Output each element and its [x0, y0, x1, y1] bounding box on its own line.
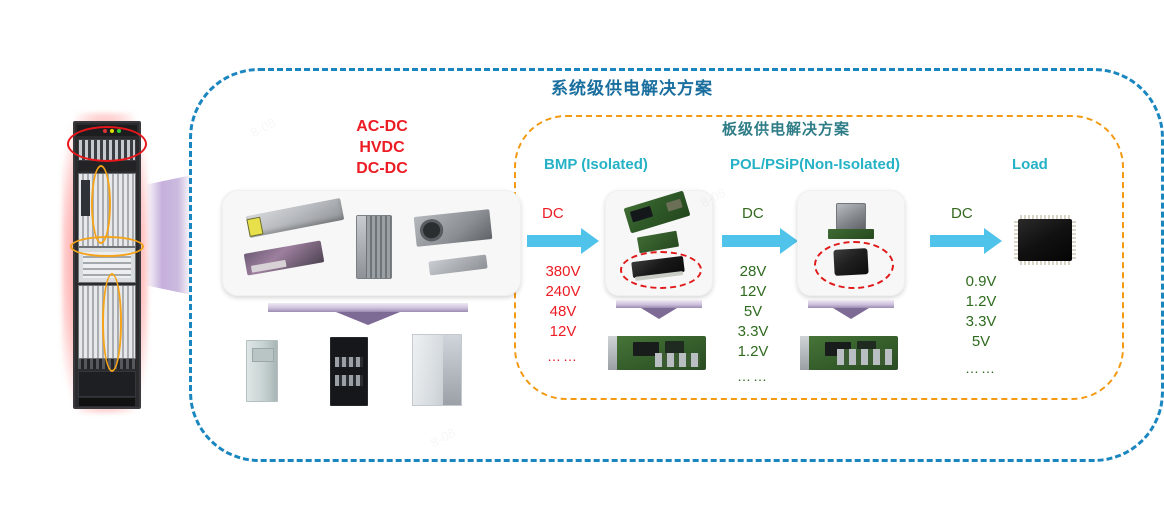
board-level-title: 板级供电解决方案 [722, 118, 850, 139]
cabinet-indoor-rack [330, 337, 368, 406]
diagram-canvas: 系统级供电解决方案 板级供电解决方案 AC-DC HVDC DC-DC BMP … [0, 0, 1164, 508]
bmp-highlight-ellipse [620, 251, 702, 289]
psu-module-fan-front [414, 209, 493, 247]
load-chip [1018, 219, 1072, 261]
input-voltage-list: 380V 240V 48V 12V …… [522, 262, 604, 366]
arrow-label-dc-1: DC [542, 205, 564, 222]
psu-module-blade [244, 240, 325, 275]
arrow-input-to-bmp [527, 228, 599, 254]
pol-output-voltage-list: 0.9V 1.2V 3.3V 5V …… [940, 272, 1022, 378]
conversion-type-hvdc: HVDC [330, 137, 434, 158]
psu-modules-panel [222, 190, 521, 296]
rack-fan-bar [78, 161, 136, 171]
column-header-pol: POL/PSiP(Non-Isolated) [730, 156, 900, 173]
voltage-value: 1.2V [940, 292, 1022, 312]
psu-module-long-silver [246, 198, 344, 238]
conversion-type-dcdc: DC-DC [330, 158, 434, 179]
line-card-pol [800, 336, 898, 370]
cabinet-rectifier-module [412, 334, 462, 406]
rack-illustration [62, 113, 148, 413]
voltage-more: …… [940, 358, 1022, 378]
column-header-bmp: BMP (Isolated) [544, 156, 648, 173]
voltage-value: 48V [522, 302, 604, 322]
pol-module-carrier-board [828, 229, 874, 239]
rack-to-diagram-connector [146, 175, 192, 295]
conversion-type-list: AC-DC HVDC DC-DC [330, 116, 434, 179]
arrow-label-dc-3: DC [951, 205, 973, 222]
voltage-value: 380V [522, 262, 604, 282]
rack-highlight-ellipse-power [67, 126, 147, 162]
voltage-value: 28V [712, 262, 794, 282]
voltage-value: 12V [522, 322, 604, 342]
bmp-output-voltage-list: 28V 12V 5V 3.3V 1.2V …… [712, 262, 794, 386]
cabinet-outdoor-power [246, 340, 278, 402]
conversion-type-acdc: AC-DC [330, 116, 434, 137]
rack-base [78, 397, 136, 407]
psu-module-rectifier [356, 215, 392, 279]
pol-highlight-ellipse [814, 241, 894, 289]
pol-module-shielded-can [836, 203, 866, 231]
voltage-more: …… [712, 366, 794, 386]
arrow-bmp-to-pol [722, 228, 798, 254]
voltage-value: 5V [940, 332, 1022, 352]
voltage-value: 0.9V [940, 272, 1022, 292]
bmp-module-pinned [637, 231, 679, 254]
voltage-value: 12V [712, 282, 794, 302]
voltage-value: 5V [712, 302, 794, 322]
voltage-value: 3.3V [712, 322, 794, 342]
voltage-more: …… [522, 346, 604, 366]
rack-highlight-ellipse-lower-cards [102, 273, 122, 372]
system-level-title: 系统级供电解决方案 [551, 74, 713, 99]
voltage-value: 240V [522, 282, 604, 302]
rack-bottom-unit [78, 371, 136, 397]
bmp-modules-panel [605, 190, 713, 296]
pol-modules-panel [797, 190, 905, 296]
rack-highlight-ellipse-upper-cards [91, 165, 111, 244]
arrow-label-dc-2: DC [742, 205, 764, 222]
psu-module-slab [428, 255, 487, 276]
voltage-value: 3.3V [940, 312, 1022, 332]
voltage-value: 1.2V [712, 342, 794, 362]
arrow-pol-to-load [930, 228, 1002, 254]
rack-highlight-ellipse-mid-shelf [70, 236, 144, 257]
line-card-bmp [608, 336, 706, 370]
column-header-load: Load [1012, 156, 1048, 173]
bmp-module-open-frame [624, 191, 691, 234]
